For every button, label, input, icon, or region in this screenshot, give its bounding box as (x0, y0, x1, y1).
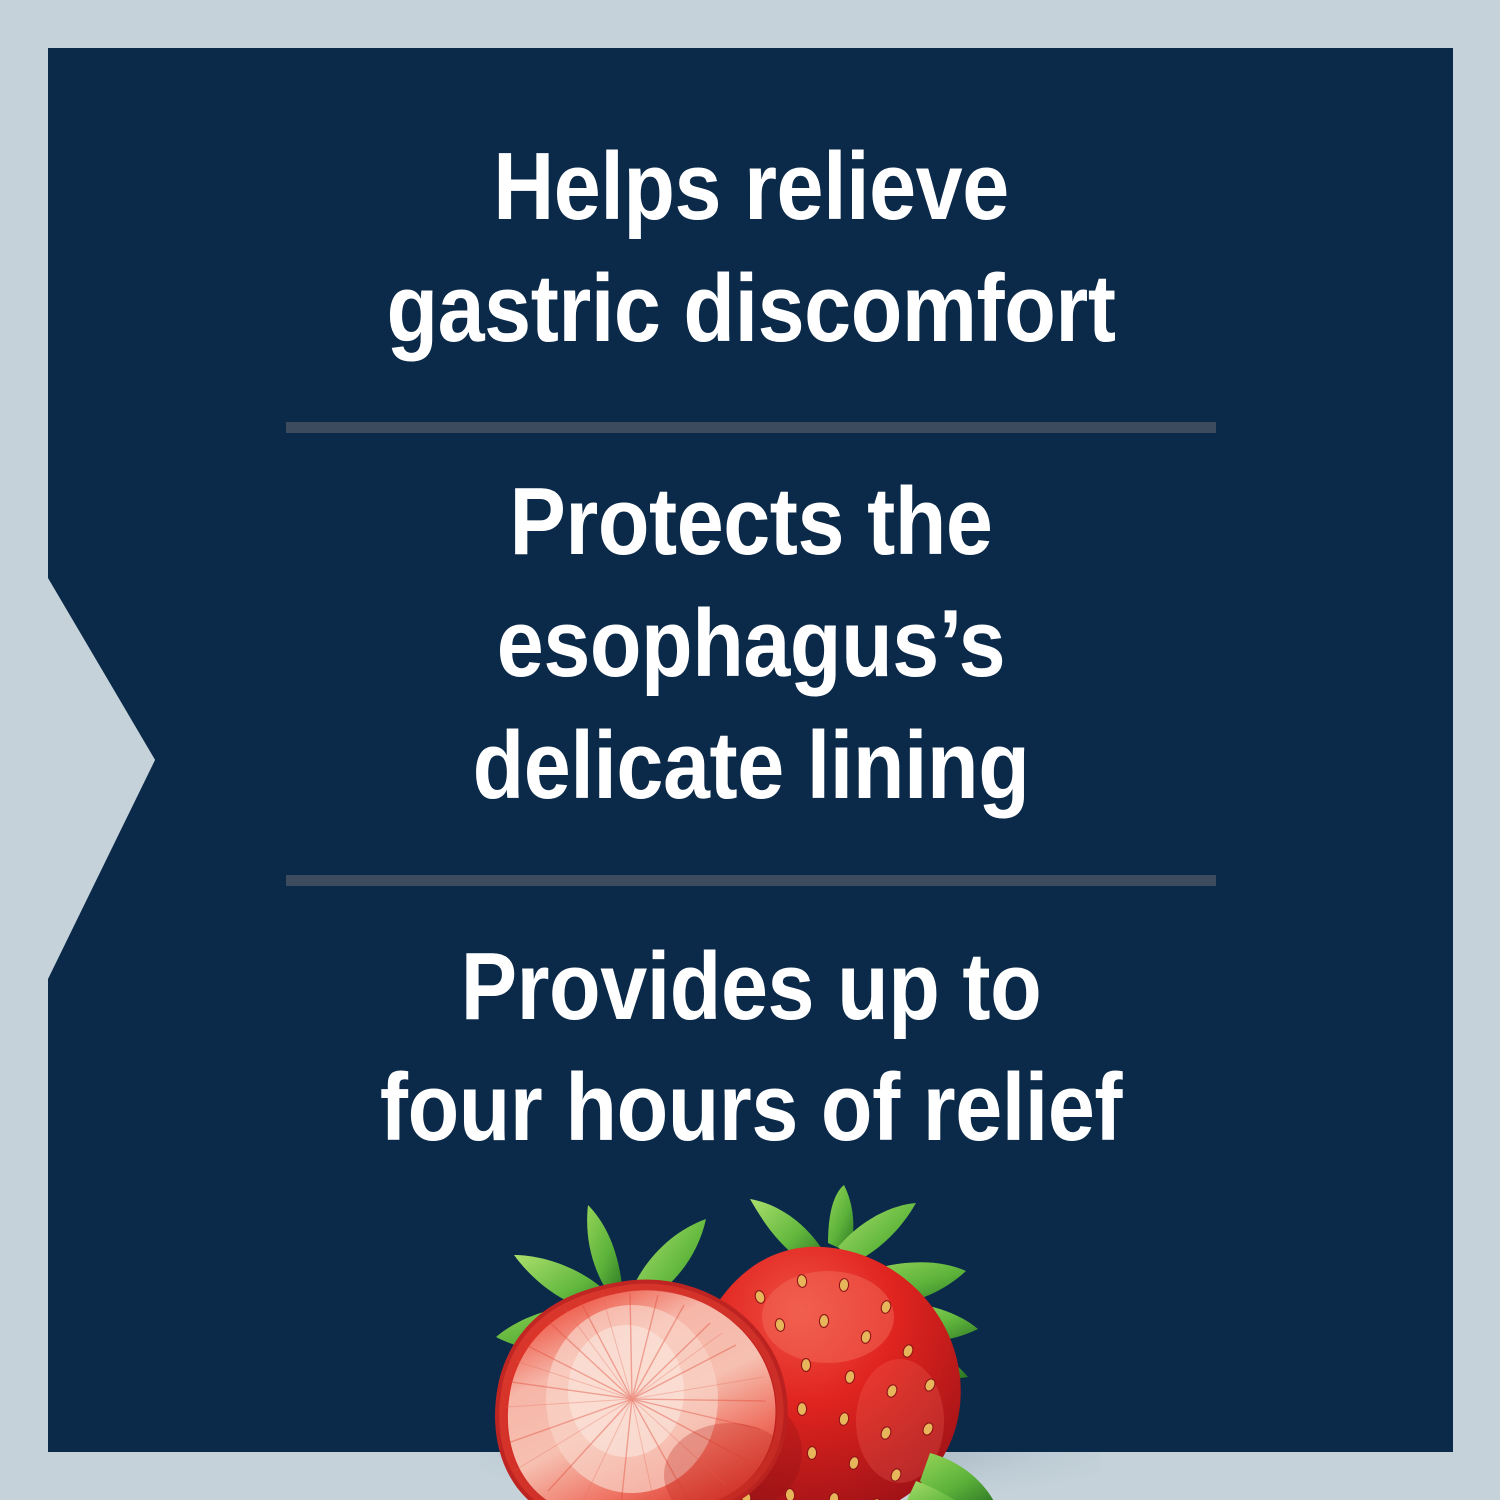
benefit-divider-1 (286, 422, 1216, 433)
benefit-item-protects-esophagus-lining: Protects the esophagus’s delicate lining (311, 461, 1191, 827)
benefit-divider-2 (286, 875, 1216, 886)
benefit-item-relieve-gastric-discomfort: Helps relieve gastric discomfort (311, 126, 1191, 370)
promo-graphic: Helps relieve gastric discomfort Protect… (0, 0, 1500, 1500)
benefit-item-four-hours-relief: Provides up to four hours of relief (311, 926, 1191, 1170)
benefits-content: Helps relieve gastric discomfort Protect… (48, 48, 1453, 1453)
fruit-contact-shadow (480, 1452, 1100, 1498)
